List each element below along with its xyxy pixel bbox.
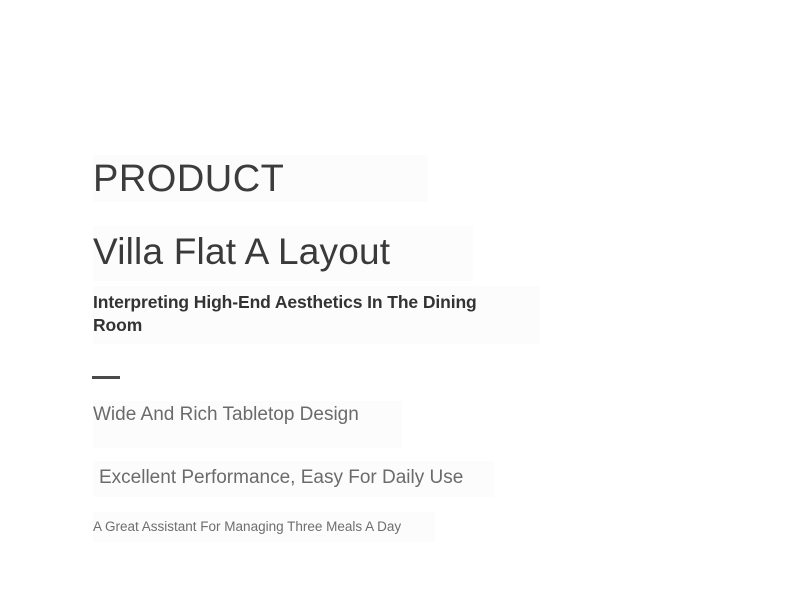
text-layer: PRODUCT Villa Flat A Layout Interpreting… — [0, 0, 790, 609]
caption-text: A Great Assistant For Managing Three Mea… — [93, 518, 401, 536]
eyebrow-label: PRODUCT — [93, 156, 284, 202]
subtitle-text: Interpreting High-End Aesthetics In The … — [93, 291, 523, 337]
product-slide: PRODUCT Villa Flat A Layout Interpreting… — [0, 0, 790, 609]
page-title: Villa Flat A Layout — [93, 228, 390, 276]
feature-heading: Wide And Rich Tabletop Design — [93, 404, 393, 426]
benefit-text: Excellent Performance, Easy For Daily Us… — [99, 465, 463, 491]
divider-rule — [92, 376, 120, 379]
